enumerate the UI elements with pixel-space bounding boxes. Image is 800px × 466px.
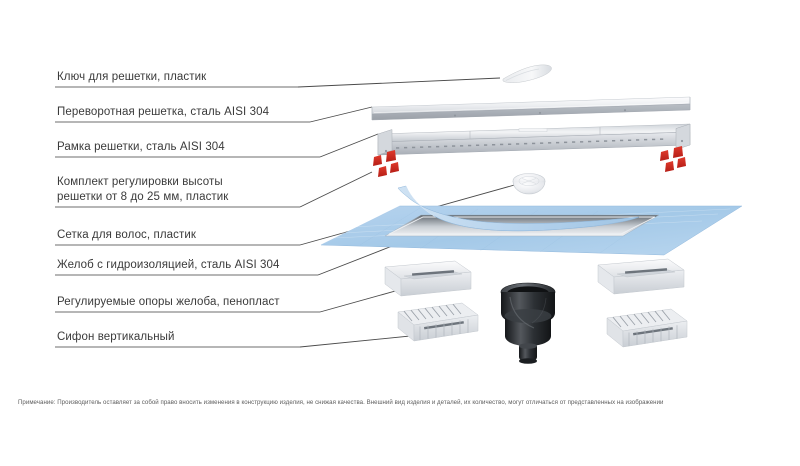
reversible-grate-part bbox=[372, 97, 690, 120]
waterproofing-membrane-part bbox=[321, 186, 742, 255]
label-siphon: Сифон вертикальный bbox=[57, 330, 175, 345]
label-frame: Рамка решетки, сталь AISI 304 bbox=[57, 140, 225, 155]
disclaimer-footnote: Примечание: Производитель оставляет за с… bbox=[18, 398, 786, 407]
hair-strainer-part bbox=[513, 174, 545, 195]
label-supports: Регулируемые опоры желоба, пенопласт bbox=[57, 295, 280, 310]
leader-height-kit bbox=[300, 172, 372, 207]
leader-key bbox=[298, 78, 500, 87]
label-channel: Желоб с гидроизоляцией, сталь AISI 304 bbox=[57, 258, 280, 273]
label-height-kit: Комплект регулировки высоты решетки от 8… bbox=[57, 175, 228, 205]
foam-support-left bbox=[385, 261, 471, 296]
grate-key-part bbox=[503, 65, 552, 83]
label-key: Ключ для решетки, пластик bbox=[57, 70, 206, 85]
leader-grate bbox=[310, 107, 372, 122]
leader-frame bbox=[320, 134, 378, 157]
label-grate: Переворотная решетка, сталь AISI 304 bbox=[57, 105, 269, 120]
vertical-siphon-part bbox=[501, 283, 555, 364]
label-hair-net: Сетка для волос, пластик bbox=[57, 228, 196, 243]
ribbed-foam-block-left bbox=[398, 303, 478, 341]
foam-support-right bbox=[598, 259, 684, 294]
ribbed-foam-block-right bbox=[607, 309, 687, 347]
leader-supports bbox=[320, 288, 406, 312]
grate-frame-part bbox=[378, 124, 690, 155]
